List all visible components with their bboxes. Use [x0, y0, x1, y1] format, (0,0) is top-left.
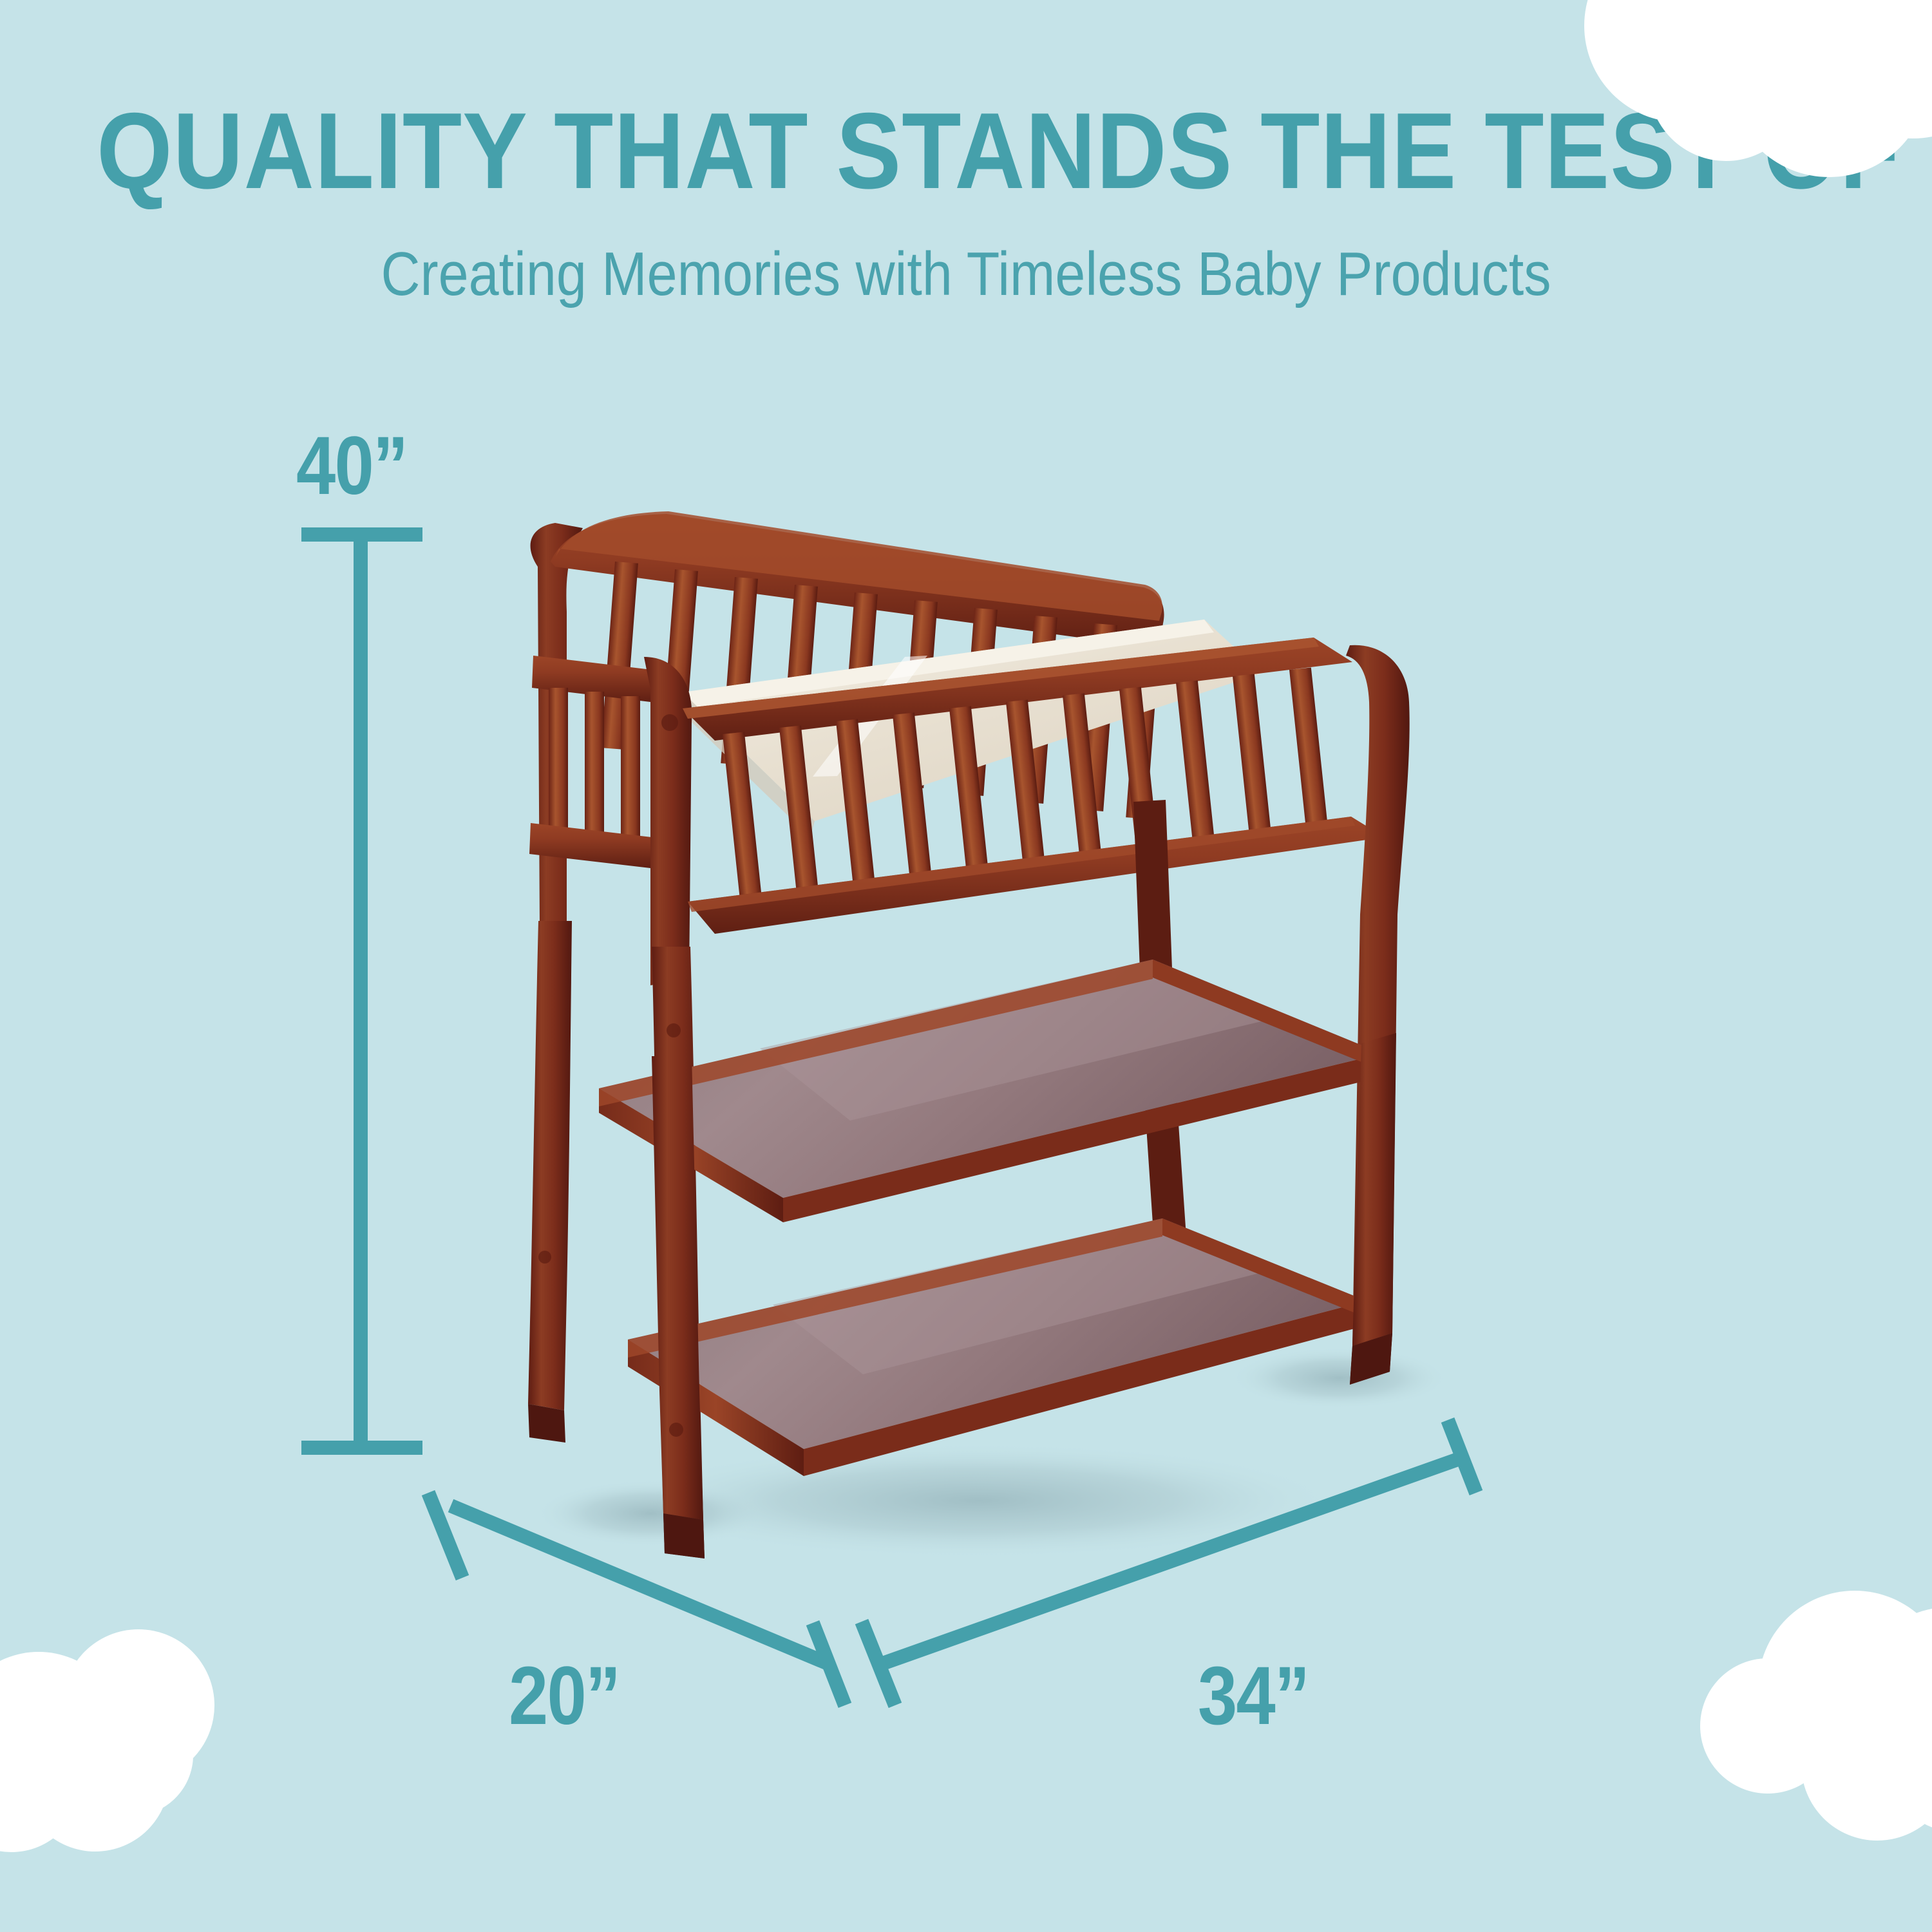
- dimension-lines-layer: [0, 0, 1932, 1932]
- dimension-line-height-40: [301, 535, 422, 1448]
- infographic-canvas: QUALITY THAT STANDS THE TEST OF TIME Cre…: [0, 0, 1932, 1932]
- dimension-line-depth-20: [428, 1493, 845, 1705]
- dimension-line-width-34: [862, 1420, 1476, 1705]
